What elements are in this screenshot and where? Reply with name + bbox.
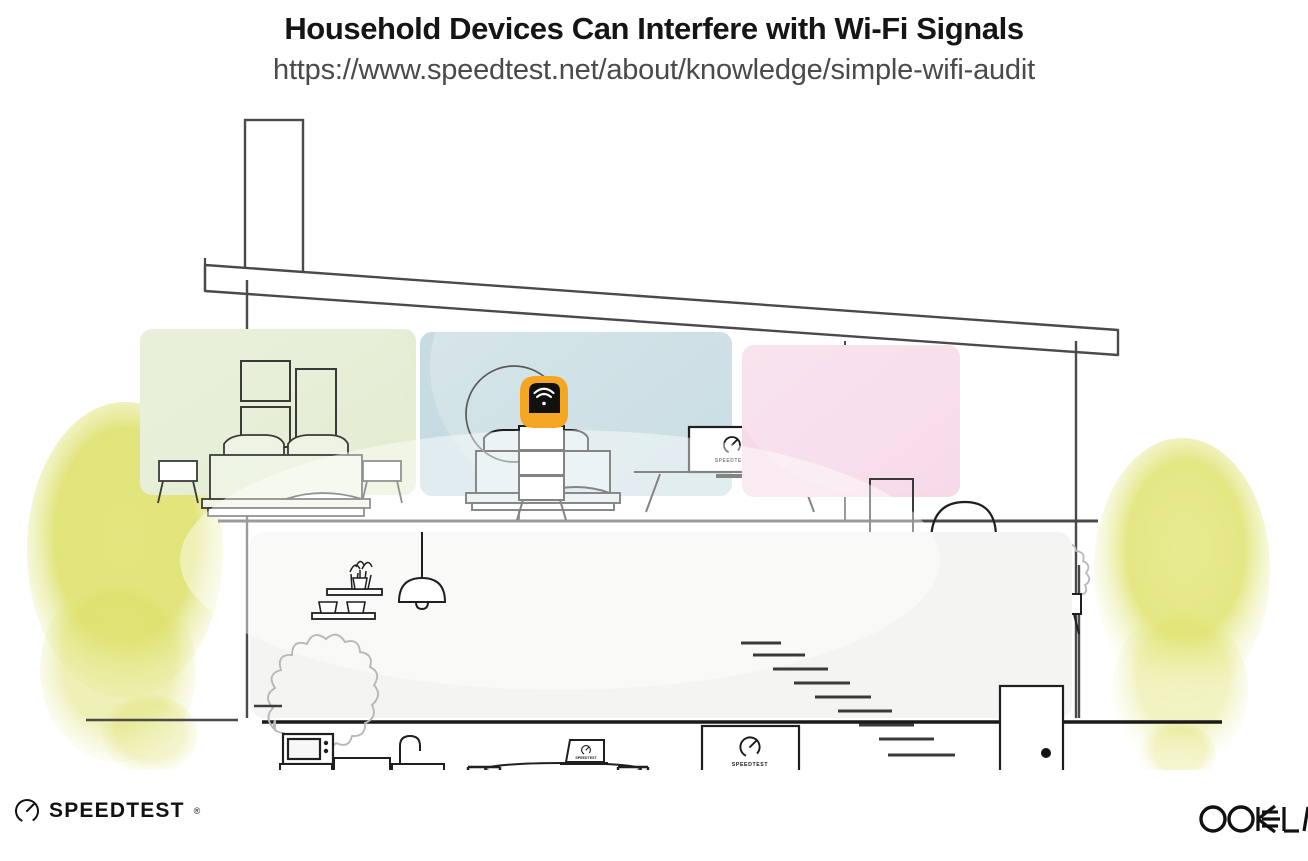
chimney (245, 120, 303, 280)
ookla-logo[interactable] (1196, 802, 1308, 841)
tv-speedtest-label: SPEEDTEST (732, 762, 768, 768)
page-url: https://www.speedtest.net/about/knowledg… (0, 53, 1308, 88)
page-title: Household Devices Can Interfere with Wi-… (0, 10, 1308, 49)
house-illustration: SPEEDTEST (0, 110, 1308, 770)
laptop-speedtest-label: SPEEDTEST (575, 756, 597, 760)
wifi-router (522, 378, 566, 426)
television: SPEEDTEST (702, 726, 799, 770)
page-header: Household Devices Can Interfere with Wi-… (0, 0, 1308, 88)
door-knob (1041, 748, 1051, 758)
sink-faucet (400, 736, 420, 764)
ookla-wordmark (1196, 802, 1308, 836)
laptop: SPEEDTEST (560, 740, 608, 765)
speedtest-wordmark: SPEEDTEST (49, 799, 185, 823)
front-door (1000, 686, 1063, 770)
foliage-right (1094, 438, 1270, 770)
page-footer: SPEEDTEST ® (0, 780, 1308, 861)
speedtest-trademark: ® (194, 806, 201, 816)
microwave-unit (283, 734, 333, 764)
speedtest-logo[interactable]: SPEEDTEST ® (14, 798, 200, 824)
speedometer-icon (14, 798, 40, 824)
